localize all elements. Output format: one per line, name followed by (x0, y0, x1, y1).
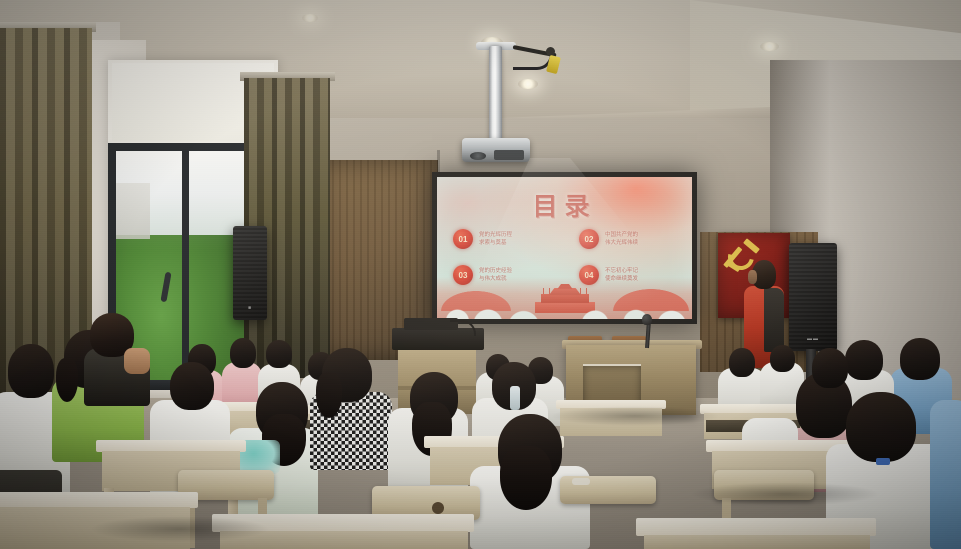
classroom-scene: 目录 01 党的光辉历程 求索与奠基 02 中国共产党的 伟大光辉伟续 03 党… (0, 0, 961, 549)
lectern-shadow (550, 406, 720, 426)
student-hair (56, 358, 78, 402)
projector-lens (470, 152, 486, 160)
slide-toc-item-02: 02 中国共产党的 伟大光辉伟续 (579, 229, 638, 249)
desk-top (636, 518, 876, 536)
window-building-view (116, 183, 150, 239)
projector-mount-pole (489, 46, 502, 142)
shirt-logo (876, 458, 890, 465)
presenter-face (748, 270, 757, 284)
slide-toc-number: 02 (579, 229, 599, 249)
slide-title: 目录 (437, 187, 692, 223)
student-head (770, 345, 795, 372)
presenter-vest (764, 288, 784, 352)
slide-toc-text: 中国共产党的 伟大光辉伟续 (605, 231, 638, 247)
ceiling-downlight (518, 79, 538, 89)
floor-speaker-right: ▬▬ (789, 243, 837, 351)
slide-toc-item-01: 01 党的光辉历程 求索与奠基 (453, 229, 512, 249)
water-bottle[interactable] (510, 386, 520, 410)
wall-speaker-left: ■ (233, 226, 267, 320)
ceiling-downlight (760, 42, 779, 51)
student-head (729, 348, 755, 377)
student-head (845, 340, 883, 380)
student-head (846, 392, 916, 462)
speaker-badge: ■ (248, 305, 252, 311)
student-head (812, 348, 848, 388)
window-mullion-vertical (182, 143, 189, 383)
student-hands (124, 348, 150, 374)
student-hair (316, 372, 342, 418)
student-head (8, 344, 54, 398)
microphone-icon[interactable] (642, 314, 652, 325)
speaker-badge: ▬▬ (807, 336, 819, 342)
student-body (930, 400, 961, 549)
projector-rear-body (494, 150, 524, 160)
furniture-shadow (690, 482, 880, 506)
ceiling-downlight (302, 14, 318, 22)
desk-item[interactable] (572, 478, 590, 485)
desk-top (0, 492, 198, 508)
desk-front (644, 535, 870, 549)
slide-toc-text: 党的光辉历程 求索与奠基 (479, 231, 512, 247)
chair-knob (432, 502, 444, 514)
slide-cloud-decoration (437, 277, 692, 319)
projection-screen[interactable]: 目录 01 党的光辉历程 求索与奠基 02 中国共产党的 伟大光辉伟续 03 党… (437, 177, 692, 319)
student-head (900, 338, 940, 380)
furniture-shadow (90, 516, 270, 542)
student-head (170, 362, 214, 410)
slide-toc-number: 01 (453, 229, 473, 249)
student-head (266, 340, 292, 368)
student-head (230, 338, 256, 368)
student-hair (500, 446, 552, 510)
